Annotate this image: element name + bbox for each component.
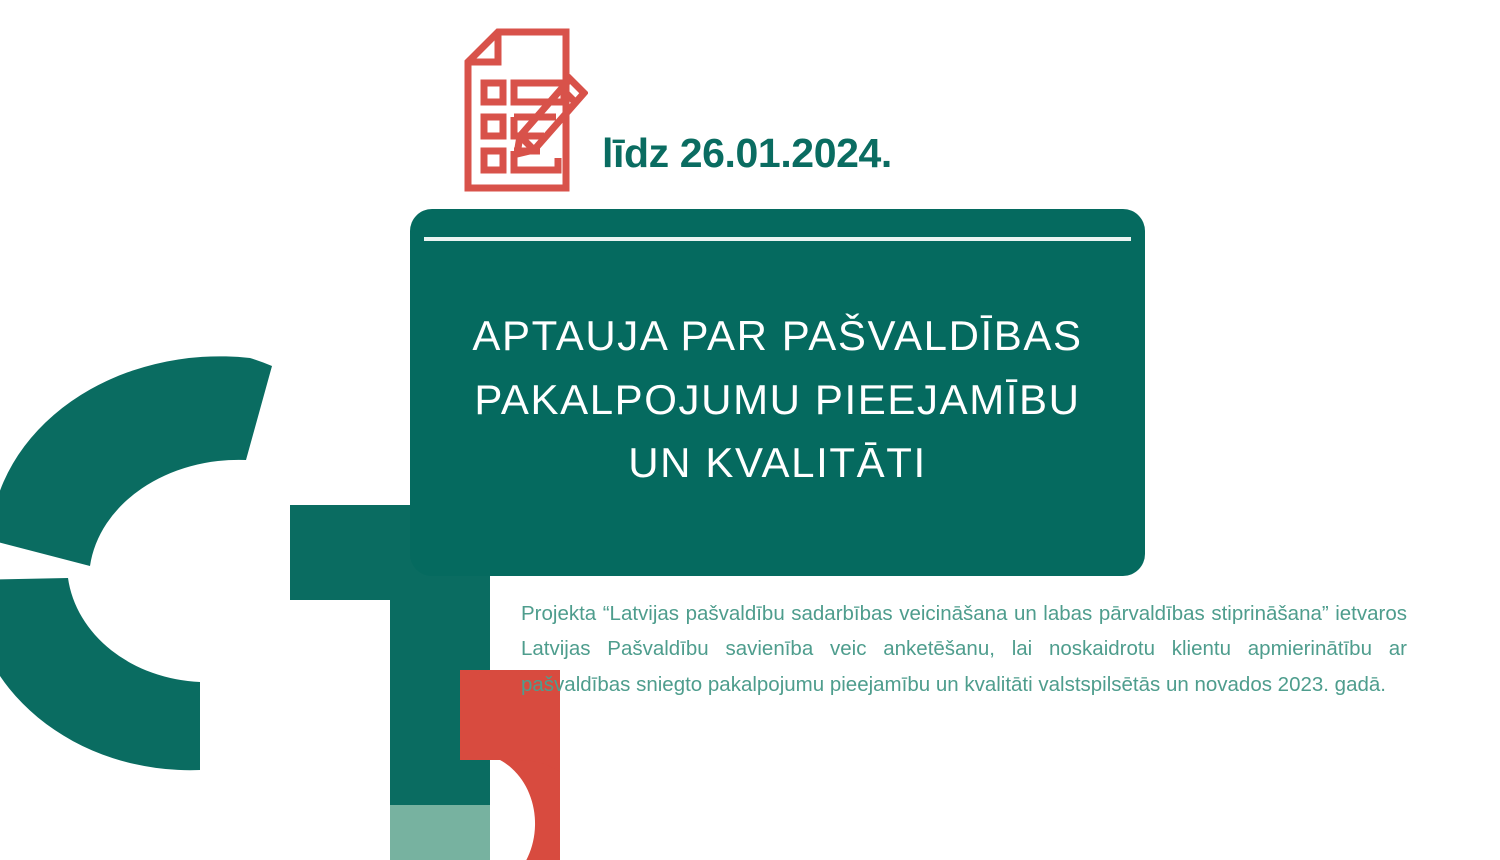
poster-canvas: līdz 26.01.2024. APTAUJA PAR PAŠVALDĪBAS… (0, 0, 1500, 860)
card-title-wrap: APTAUJA PAR PAŠVALDĪBAS PAKALPOJUMU PIEE… (410, 241, 1145, 576)
deadline-date-label: līdz 26.01.2024. (602, 133, 892, 196)
header-row: līdz 26.01.2024. (462, 28, 892, 196)
icon-checkbox-2 (484, 117, 503, 136)
title-card: APTAUJA PAR PAŠVALDĪBAS PAKALPOJUMU PIEE… (410, 209, 1145, 576)
page-title: APTAUJA PAR PAŠVALDĪBAS PAKALPOJUMU PIEE… (472, 304, 1082, 495)
icon-checkbox-1 (484, 83, 503, 102)
body-paragraph: Projekta “Latvijas pašvaldību sadarbības… (521, 596, 1407, 702)
logo-g-stem-light (390, 805, 490, 860)
logo-g-arc (0, 356, 272, 566)
form-pencil-icon (462, 28, 588, 196)
logo-g-lower-arc (0, 578, 200, 770)
icon-checkbox-3 (484, 151, 503, 170)
